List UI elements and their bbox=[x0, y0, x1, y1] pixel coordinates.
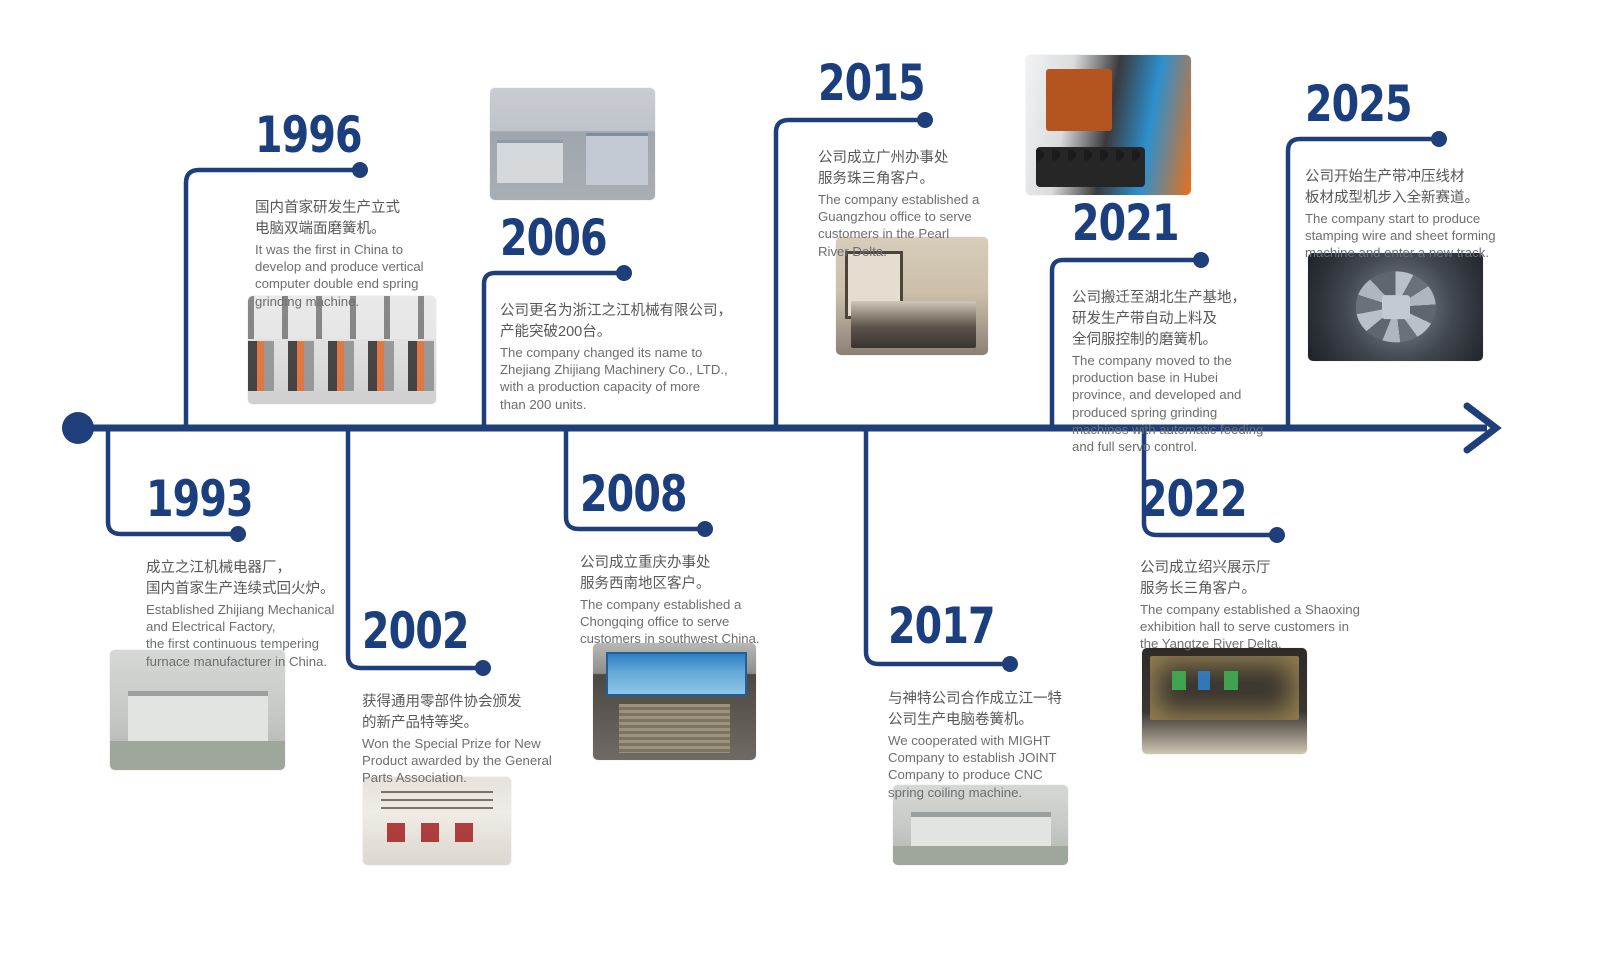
event-year-2006: 2006 bbox=[500, 213, 720, 263]
award-certificate-photo bbox=[363, 777, 511, 865]
event-text-en-2006: The company changed its name to Zhejiang… bbox=[500, 344, 750, 413]
event-year-1996: 1996 bbox=[255, 110, 431, 160]
event-text-cn-1996: 国内首家研发生产立式 电脑双端面磨簧机。 bbox=[255, 198, 455, 240]
event-year-1993: 1993 bbox=[146, 474, 348, 524]
event-text-en-1996: It was the first in China to develop and… bbox=[255, 241, 455, 310]
event-text-en-2015: The company established a Guangzhou offi… bbox=[818, 191, 1013, 260]
event-year-2002: 2002 bbox=[362, 606, 560, 656]
automatic-feeding-machine-photo-image bbox=[1026, 55, 1191, 195]
workshop-photo bbox=[248, 296, 436, 404]
timeline-event-1996[interactable]: 1996 国内首家研发生产立式 电脑双端面磨簧机。 It was the fir… bbox=[255, 110, 455, 310]
event-description-2015: 公司成立广州办事处 服务珠三角客户。 The company establish… bbox=[818, 148, 1013, 260]
event-text-cn-1993: 成立之江机械电器厂， 国内首家生产连续式回火炉。 bbox=[146, 558, 376, 600]
event-description-1993: 成立之江机械电器厂， 国内首家生产连续式回火炉。 Established Zhi… bbox=[146, 558, 376, 670]
event-text-cn-2006: 公司更名为浙江之江机械有限公司， 产能突破200台。 bbox=[500, 301, 750, 343]
event-year-2015: 2015 bbox=[818, 58, 990, 108]
event-text-cn-2021: 公司搬迁至湖北生产基地， 研发生产带自动上料及 全伺服控制的磨簧机。 bbox=[1072, 288, 1288, 351]
event-year-2008: 2008 bbox=[580, 469, 782, 519]
event-description-2008: 公司成立重庆办事处 服务西南地区客户。 The company establis… bbox=[580, 553, 810, 648]
timeline-event-2002[interactable]: 2002 获得通用零部件协会颁发 的新产品特等奖。 Won the Specia… bbox=[362, 606, 587, 787]
event-year-2025: 2025 bbox=[1305, 79, 1494, 129]
timeline-infographic: 1996 国内首家研发生产立式 电脑双端面磨簧机。 It was the fir… bbox=[0, 0, 1600, 959]
timeline-event-2015[interactable]: 2015 公司成立广州办事处 服务珠三角客户。 The company esta… bbox=[818, 58, 1013, 260]
event-text-en-1993: Established Zhijiang Mechanical and Elec… bbox=[146, 601, 376, 670]
event-year-2022: 2022 bbox=[1140, 474, 1369, 524]
event-text-en-2022: The company established a Shaoxing exhib… bbox=[1140, 601, 1400, 652]
event-description-2017: 与神特公司合作成立江一特 公司生产电脑卷簧机。 We cooperated wi… bbox=[888, 689, 1093, 801]
event-text-cn-2017: 与神特公司合作成立江一特 公司生产电脑卷簧机。 bbox=[888, 689, 1093, 731]
stamping-forming-machine-photo-image bbox=[1308, 253, 1483, 361]
timeline-start-node bbox=[62, 412, 94, 444]
event-text-cn-2025: 公司开始生产带冲压线材 板材成型机步入全新赛道。 bbox=[1305, 167, 1520, 209]
event-text-en-2025: The company start to produce stamping wi… bbox=[1305, 210, 1520, 261]
automatic-feeding-machine-photo bbox=[1026, 55, 1191, 195]
timeline-event-2006[interactable]: 2006 公司更名为浙江之江机械有限公司， 产能突破200台。 The comp… bbox=[500, 213, 750, 413]
timeline-event-2008[interactable]: 2008 公司成立重庆办事处 服务西南地区客户。 The company est… bbox=[580, 469, 810, 648]
event-year-2021: 2021 bbox=[1072, 198, 1262, 248]
chongqing-storefront-photo bbox=[593, 643, 756, 760]
event-text-en-2017: We cooperated with MIGHT Company to esta… bbox=[888, 732, 1093, 801]
shaoxing-showroom-photo bbox=[1142, 648, 1307, 754]
event-description-2025: 公司开始生产带冲压线材 板材成型机步入全新赛道。 The company sta… bbox=[1305, 167, 1520, 262]
event-description-2002: 获得通用零部件协会颁发 的新产品特等奖。 Won the Special Pri… bbox=[362, 692, 587, 787]
event-text-en-2008: The company established a Chongqing offi… bbox=[580, 596, 810, 647]
award-certificate-photo-image bbox=[363, 777, 511, 865]
stamping-forming-machine-photo bbox=[1308, 253, 1483, 361]
event-text-cn-2008: 公司成立重庆办事处 服务西南地区客户。 bbox=[580, 553, 810, 595]
timeline-event-1993[interactable]: 1993 成立之江机械电器厂， 国内首家生产连续式回火炉。 Establishe… bbox=[146, 474, 376, 670]
event-description-2006: 公司更名为浙江之江机械有限公司， 产能突破200台。 The company c… bbox=[500, 301, 750, 413]
timeline-arrow-icon bbox=[1467, 406, 1496, 450]
event-text-cn-2002: 获得通用零部件协会颁发 的新产品特等奖。 bbox=[362, 692, 587, 734]
event-description-2022: 公司成立绍兴展示厅 服务长三角客户。 The company establish… bbox=[1140, 558, 1400, 653]
factory-aerial-photo bbox=[490, 88, 655, 200]
event-description-2021: 公司搬迁至湖北生产基地， 研发生产带自动上料及 全伺服控制的磨簧机。 The c… bbox=[1072, 288, 1288, 455]
timeline-event-2021[interactable]: 2021 公司搬迁至湖北生产基地， 研发生产带自动上料及 全伺服控制的磨簧机。 … bbox=[1072, 198, 1288, 455]
chongqing-storefront-photo-image bbox=[593, 643, 756, 760]
workshop-photo-image bbox=[248, 296, 436, 404]
timeline-event-2022[interactable]: 2022 公司成立绍兴展示厅 服务长三角客户。 The company esta… bbox=[1140, 474, 1400, 653]
event-text-en-2021: The company moved to the production base… bbox=[1072, 352, 1288, 455]
event-text-cn-2015: 公司成立广州办事处 服务珠三角客户。 bbox=[818, 148, 1013, 190]
shaoxing-showroom-photo-image bbox=[1142, 648, 1307, 754]
timeline-event-2025[interactable]: 2025 公司开始生产带冲压线材 板材成型机步入全新赛道。 The compan… bbox=[1305, 79, 1520, 262]
event-year-2017: 2017 bbox=[888, 601, 1068, 651]
event-description-1996: 国内首家研发生产立式 电脑双端面磨簧机。 It was the first in… bbox=[255, 198, 455, 310]
factory-aerial-photo-image bbox=[490, 88, 655, 200]
event-text-en-2002: Won the Special Prize for New Product aw… bbox=[362, 735, 587, 786]
timeline-event-2017[interactable]: 2017 与神特公司合作成立江一特 公司生产电脑卷簧机。 We cooperat… bbox=[888, 601, 1093, 801]
event-text-cn-2022: 公司成立绍兴展示厅 服务长三角客户。 bbox=[1140, 558, 1400, 600]
